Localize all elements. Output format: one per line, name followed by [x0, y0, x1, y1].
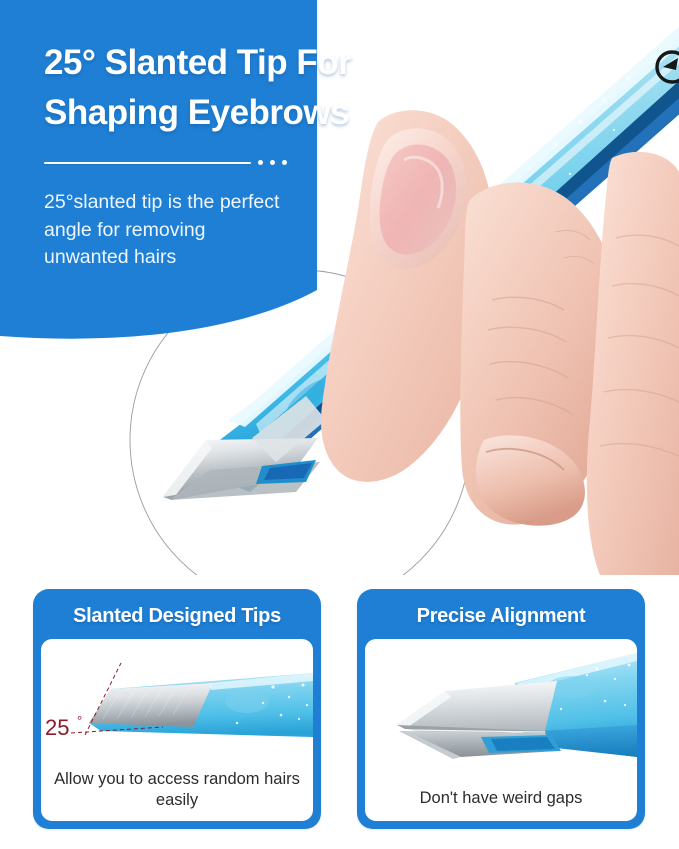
aligned-tips-diagram	[365, 639, 637, 787]
divider-dot-2	[270, 160, 275, 165]
divider	[44, 160, 287, 165]
feature-card-precise-alignment: Precise Alignment	[357, 589, 645, 829]
feature-cards: Slanted Designed Tips	[33, 589, 646, 829]
feature-card-figure	[365, 639, 637, 788]
angle-label: 25	[45, 715, 69, 740]
feature-card-caption: Allow you to access random hairs easily	[41, 769, 313, 821]
divider-dot-3	[282, 160, 287, 165]
page-subtitle: 25°slanted tip is the perfect angle for …	[44, 189, 280, 272]
feature-card-slanted-designed-tips: Slanted Designed Tips	[33, 589, 321, 829]
feature-card-figure: 25 °	[41, 639, 313, 769]
divider-dot-1	[258, 160, 263, 165]
hero-header-content: 25° Slanted Tip For Shaping Eyebrows 25°…	[0, 0, 317, 345]
divider-bar	[44, 162, 251, 164]
feature-card-title: Precise Alignment	[365, 597, 637, 639]
page-title-line-2: Shaping Eyebrows	[44, 88, 297, 138]
feature-card-body: Don't have weird gaps	[365, 639, 637, 821]
feature-card-body: 25 ° Allow you to access random hairs ea…	[41, 639, 313, 821]
feature-card-caption: Don't have weird gaps	[365, 788, 637, 821]
page-title-line-1: 25° Slanted Tip For	[44, 43, 351, 82]
page-title: 25° Slanted Tip For Shaping Eyebrows	[44, 38, 297, 138]
angle-degree-symbol: °	[77, 713, 82, 728]
feature-card-title: Slanted Designed Tips	[41, 597, 313, 639]
slanted-tip-angle-diagram: 25 °	[41, 639, 313, 769]
